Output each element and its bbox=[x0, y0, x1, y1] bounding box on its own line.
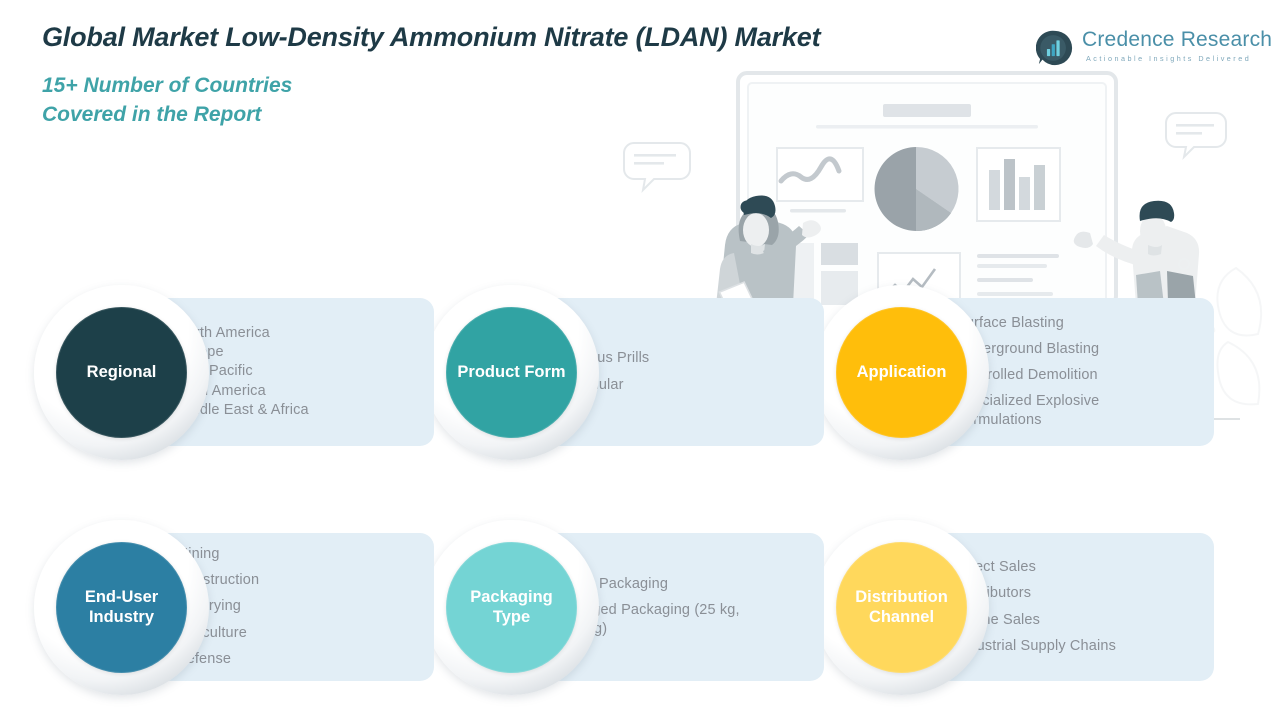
segment-item-list: Direct Sales Distributors Online Sales I… bbox=[956, 533, 1206, 681]
segment-badge-ring: Packaging Type bbox=[424, 520, 599, 695]
pie-chart bbox=[875, 147, 959, 231]
list-item: Controlled Demolition bbox=[956, 366, 1206, 385]
segment-label-application[interactable]: Application bbox=[836, 307, 967, 438]
segment-badge-ring: End-User Industry bbox=[34, 520, 209, 695]
segment-card-application[interactable]: Surface Blasting Underground Blasting Co… bbox=[814, 285, 1214, 460]
list-item: Direct Sales bbox=[956, 558, 1206, 577]
segment-item-list: North America Europe Asia Pacific Latin … bbox=[176, 298, 426, 446]
list-item: Underground Blasting bbox=[956, 340, 1206, 359]
list-item: Surface Blasting bbox=[956, 314, 1206, 333]
list-item: Defense bbox=[176, 650, 426, 669]
list-item: North America bbox=[176, 324, 426, 343]
list-item: Middle East & Africa bbox=[176, 401, 426, 420]
list-item: Quarrying bbox=[176, 597, 426, 616]
segment-card-distribution-channel[interactable]: Direct Sales Distributors Online Sales I… bbox=[814, 520, 1214, 695]
speech-bubble-left bbox=[624, 143, 690, 190]
list-item: Mining bbox=[176, 545, 426, 564]
segment-item-list: Bulk Packaging Bagged Packaging (25 kg, … bbox=[566, 533, 816, 681]
list-item: Agriculture bbox=[176, 624, 426, 643]
business-analytics-presentation-illustration bbox=[620, 55, 1240, 305]
infographic-canvas: Global Market Low-Density Ammonium Nitra… bbox=[0, 0, 1280, 720]
segment-label-product-form[interactable]: Product Form bbox=[446, 307, 577, 438]
segment-badge-ring: Regional bbox=[34, 285, 209, 460]
list-item: Porous Prills bbox=[566, 349, 816, 368]
logo-wordmark: Credence Research bbox=[1082, 28, 1272, 52]
list-item: Construction bbox=[176, 571, 426, 590]
list-item: Bulk Packaging bbox=[566, 575, 816, 594]
segment-card-product-form[interactable]: Porous Prills Granular Product Form bbox=[424, 285, 824, 460]
segment-card-packaging-type[interactable]: Bulk Packaging Bagged Packaging (25 kg, … bbox=[424, 520, 824, 695]
segment-card-regional[interactable]: North America Europe Asia Pacific Latin … bbox=[34, 285, 434, 460]
list-item: Industrial Supply Chains bbox=[956, 637, 1206, 656]
list-item: Granular bbox=[566, 376, 816, 395]
segment-label-regional[interactable]: Regional bbox=[56, 307, 187, 438]
list-item: Europe bbox=[176, 343, 426, 362]
segment-label-packaging-type[interactable]: Packaging Type bbox=[446, 542, 577, 673]
segment-item-list: Mining Construction Quarrying Agricultur… bbox=[176, 533, 426, 681]
segment-item-list: Surface Blasting Underground Blasting Co… bbox=[956, 298, 1206, 446]
page-subtitle: 15+ Number of Countries Covered in the R… bbox=[42, 72, 292, 130]
list-item: Online Sales bbox=[956, 611, 1206, 630]
segment-card-end-user-industry[interactable]: Mining Construction Quarrying Agricultur… bbox=[34, 520, 434, 695]
segment-badge-ring: Product Form bbox=[424, 285, 599, 460]
speech-bubble-right bbox=[1166, 113, 1226, 157]
segment-badge-ring: Application bbox=[814, 285, 989, 460]
segment-badge-ring: Distribution Channel bbox=[814, 520, 989, 695]
segment-label-end-user-industry[interactable]: End-User Industry bbox=[56, 542, 187, 673]
list-item: Latin America bbox=[176, 382, 426, 401]
page-title: Global Market Low-Density Ammonium Nitra… bbox=[42, 22, 820, 53]
list-item: Distributors bbox=[956, 584, 1206, 603]
segment-item-list: Porous Prills Granular bbox=[566, 298, 816, 446]
segment-label-distribution-channel[interactable]: Distribution Channel bbox=[836, 542, 967, 673]
list-item: Asia Pacific bbox=[176, 362, 426, 381]
